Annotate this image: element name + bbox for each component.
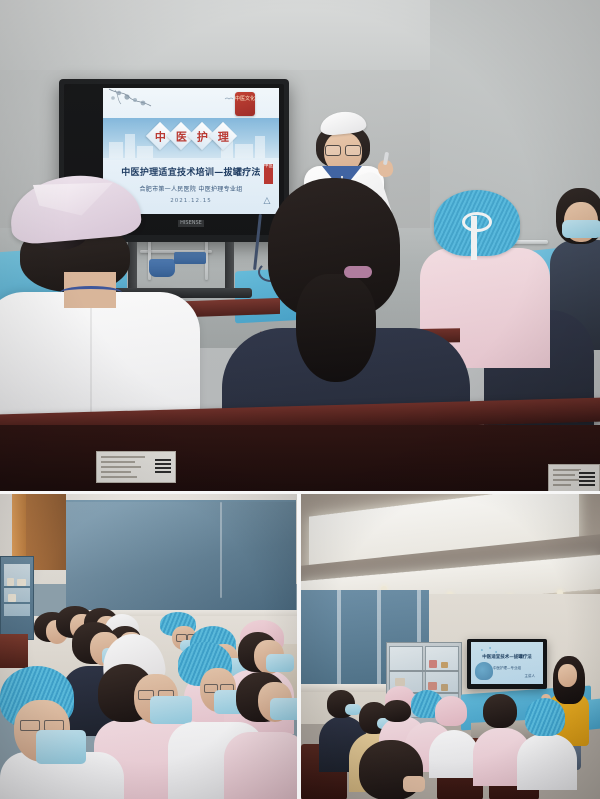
hair-tie-icon (344, 266, 372, 278)
bl-attendee-right-front (224, 672, 297, 799)
display-stand-post-right (225, 242, 234, 292)
qr-code-icon-2 (579, 470, 595, 486)
slide-banner-chars: 中 医 护 理 (103, 124, 279, 148)
bench-row-front-face (0, 425, 600, 491)
surgical-cap-bow (462, 212, 492, 232)
bl-cabinet-glass-door (4, 564, 30, 616)
br-slide-presenter-name: 主讲人 (471, 674, 543, 679)
br-presenter-face (558, 664, 577, 687)
attendee-center-ponytail (296, 274, 376, 382)
qr-code-icon (155, 457, 171, 473)
bl-bench-edge (0, 634, 28, 668)
bench-asset-label-1 (96, 451, 176, 483)
br-attendee-pinkcap-2 (429, 696, 475, 772)
bottom-left-photo-audience (0, 494, 297, 799)
br-presentation-screen[interactable]: 中医适宜技术—拔罐疗法 中医护理—专业组 主讲人 (471, 642, 543, 684)
br-slide-subtitle: 中医护理—专业组 (471, 666, 543, 671)
br-attendee-foreground (359, 740, 431, 799)
surgical-cap-tie (471, 216, 477, 260)
br-slide-title: 中医适宜技术—拔罐疗法 (471, 654, 543, 660)
slide-seal-stamp: 中医文化 (235, 92, 255, 116)
plum-branch-illustration (107, 88, 159, 114)
banner-char-4: 理 (208, 122, 236, 150)
vertical-separator (297, 494, 301, 799)
br-attendee-bluecap-2 (517, 698, 573, 786)
bl-blind-sheen (66, 502, 296, 614)
photo-collage: 中医文化 中 医 护 理 中医护理适宜技术培训—拔罐疗法 (0, 0, 600, 799)
top-photo-lecture: 中医文化 中 医 护 理 中医护理适宜技术培训—拔罐疗法 (0, 0, 600, 491)
bl-attendee-foreground (0, 666, 120, 799)
presenter-glasses (325, 145, 361, 154)
bench-asset-label-2 (548, 464, 600, 491)
bl-blind-cord (220, 502, 222, 598)
lanyard-strap (60, 286, 122, 299)
bottom-right-photo-classroom: 中医适宜技术—拔罐疗法 中医护理—专业组 主讲人 (301, 494, 600, 799)
